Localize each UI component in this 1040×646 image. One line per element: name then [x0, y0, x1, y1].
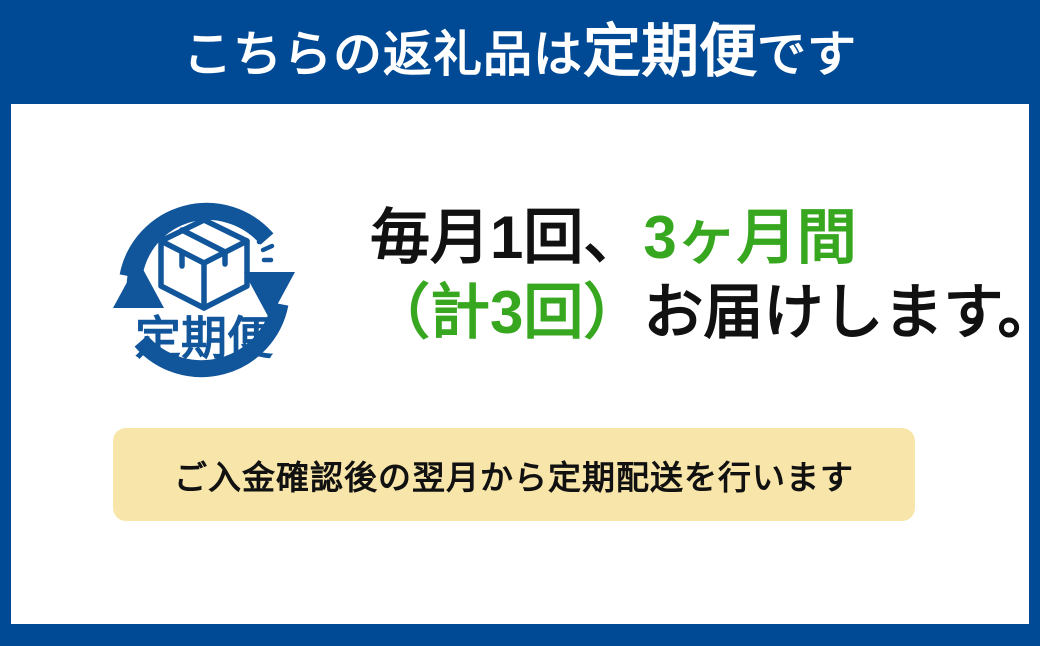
message-line-2-black: お届けします。 — [643, 279, 1040, 346]
header-band: こちらの返礼品は定期便です — [0, 0, 1040, 104]
teikibin-banner: こちらの返礼品は定期便です — [0, 0, 1040, 646]
notice-text: ご入金確認後の翌月から定期配送を行います — [174, 451, 854, 499]
header-text-after: です — [757, 31, 857, 80]
message-line-2: （計3回）お届けします。 — [370, 281, 970, 346]
main-message: 毎月1回、3ヶ月間 （計3回）お届けします。 — [370, 206, 970, 346]
page-title: こちらの返礼品は定期便です — [183, 23, 857, 81]
teikibin-cycle-icon: 定期便 — [104, 186, 304, 394]
frame-border-bottom — [0, 624, 1040, 646]
message-line-2-green: （計3回） — [370, 279, 643, 346]
message-line-1: 毎月1回、3ヶ月間 — [370, 206, 970, 271]
message-line-1-black: 毎月1回、 — [370, 204, 643, 271]
icon-label: 定期便 — [135, 312, 274, 364]
header-text-before: こちらの返礼品は — [183, 31, 583, 80]
message-line-1-green: 3ヶ月間 — [643, 204, 856, 271]
notice-banner: ご入金確認後の翌月から定期配送を行います — [113, 428, 915, 521]
header-text-emphasis: 定期便 — [583, 23, 757, 81]
